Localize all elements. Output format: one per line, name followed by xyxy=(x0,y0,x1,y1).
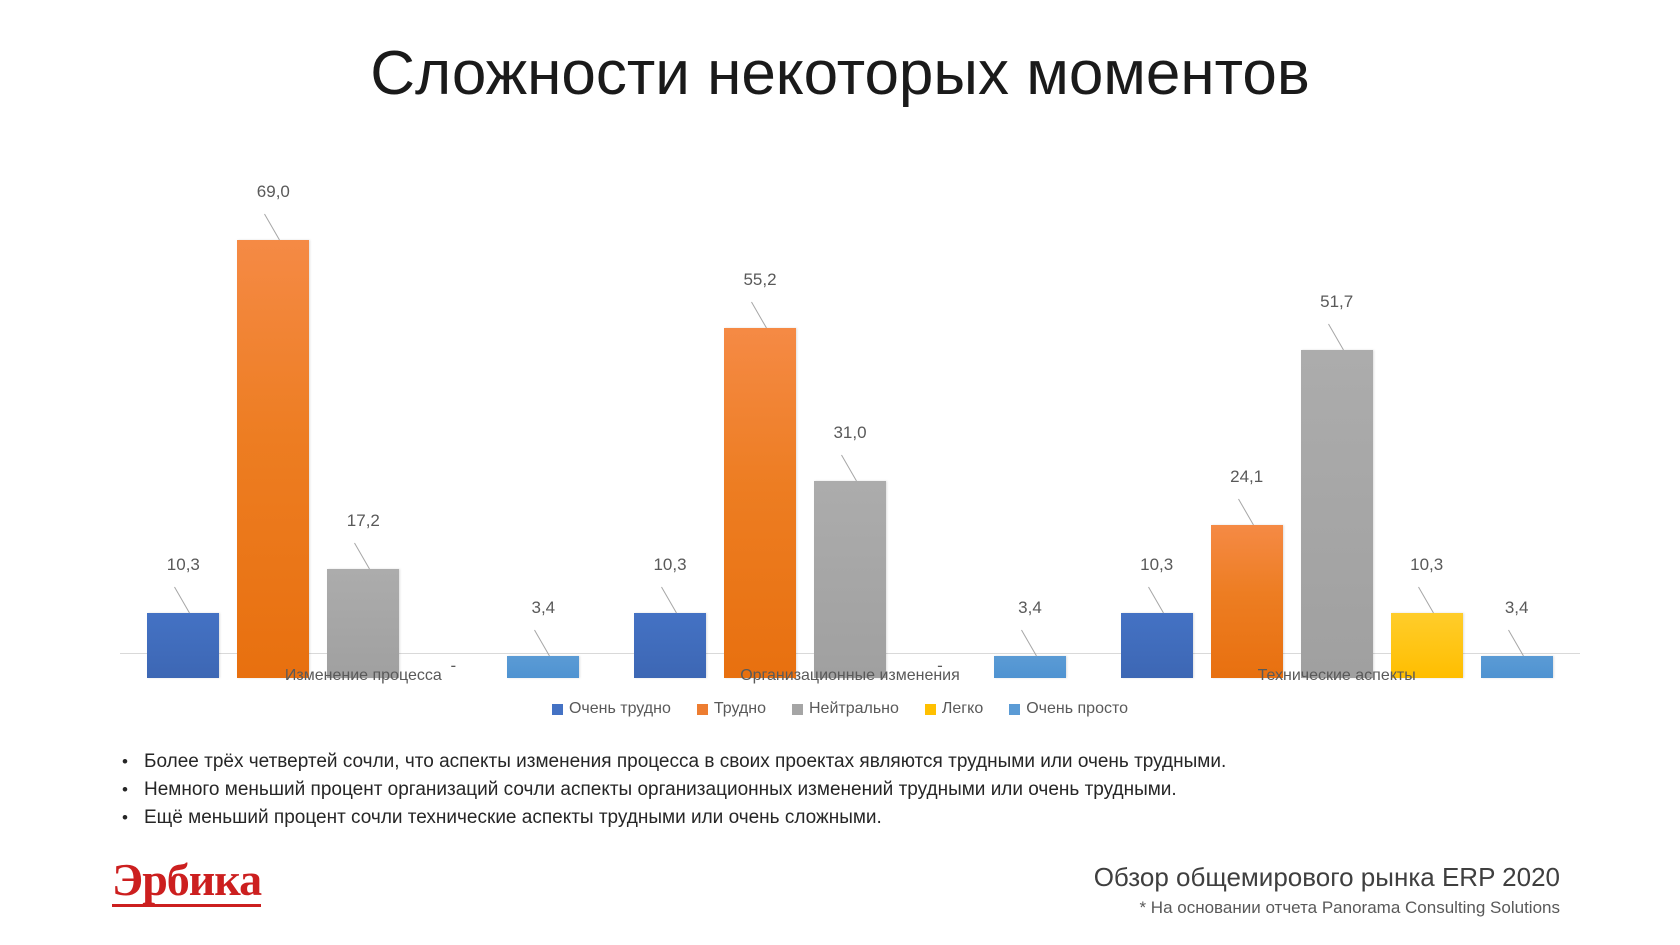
bullet-marker-icon: • xyxy=(122,776,144,804)
bar-slot[interactable]: 51,7 xyxy=(1301,202,1373,678)
leader-line xyxy=(534,630,550,656)
bullet-list: •Более трёх четвертей сочли, что аспекты… xyxy=(122,748,1522,832)
bullet-marker-icon: • xyxy=(122,804,144,832)
bar-slot[interactable]: 10,3 xyxy=(147,202,219,678)
bar-slot[interactable]: 10,3 xyxy=(1391,202,1463,678)
bar-value-label: 3,4 xyxy=(532,599,556,616)
leader-line xyxy=(1021,630,1037,656)
legend-label: Трудно xyxy=(714,700,766,718)
leader-line xyxy=(264,214,280,240)
bar-value-label: 69,0 xyxy=(257,183,290,200)
bullet-item: •Более трёх четвертей сочли, что аспекты… xyxy=(122,748,1522,776)
bar-2[interactable] xyxy=(1301,350,1373,678)
bar-value-label: 10,3 xyxy=(1410,556,1443,573)
erbika-logo: Эрбика xyxy=(112,857,261,907)
bar-1[interactable] xyxy=(1211,525,1283,678)
legend-swatch-icon xyxy=(792,704,803,715)
bar-value-label: 55,2 xyxy=(743,271,776,288)
legend-label: Очень просто xyxy=(1026,700,1128,718)
bar-2[interactable] xyxy=(814,481,886,678)
bar-slot[interactable]: 31,0 xyxy=(814,202,886,678)
bar-slot[interactable]: 3,4 xyxy=(507,202,579,678)
bar-value-label: 31,0 xyxy=(833,424,866,441)
bullet-item: •Немного меньший процент организаций соч… xyxy=(122,776,1522,804)
bar-value-label: 10,3 xyxy=(1140,556,1173,573)
legend-label: Нейтрально xyxy=(809,700,899,718)
category-label: Организационные изменения xyxy=(607,667,1094,685)
legend-item[interactable]: Очень трудно xyxy=(552,700,671,718)
footer-credit: Обзор общемирового рынка ERP 2020 * На о… xyxy=(1094,862,1560,918)
bar-slot[interactable]: 17,2 xyxy=(327,202,399,678)
leader-line xyxy=(751,301,767,327)
leader-line xyxy=(354,543,370,569)
bullet-marker-icon: • xyxy=(122,748,144,776)
chart-legend: Очень трудноТрудноНейтральноЛегкоОчень п… xyxy=(0,700,1680,718)
legend-item[interactable]: Нейтрально xyxy=(792,700,899,718)
footer-title: Обзор общемирового рынка ERP 2020 xyxy=(1094,862,1560,893)
leader-line xyxy=(174,586,190,612)
bullet-text: Ещё меньший процент сочли технические ас… xyxy=(144,804,882,832)
leader-line xyxy=(1508,630,1524,656)
bar-slot[interactable]: 10,3 xyxy=(634,202,706,678)
bar-slot[interactable]: - xyxy=(904,202,976,678)
leader-line xyxy=(1238,499,1254,525)
bar-group: 10,355,231,0-3,4 xyxy=(607,202,1094,678)
footer-source: * На основании отчета Panorama Consultin… xyxy=(1094,898,1560,918)
category-label: Технические аспекты xyxy=(1093,667,1580,685)
bar-value-label: 17,2 xyxy=(347,512,380,529)
bullet-text: Более трёх четвертей сочли, что аспекты … xyxy=(144,748,1226,776)
legend-item[interactable]: Трудно xyxy=(697,700,766,718)
bar-slot[interactable]: - xyxy=(417,202,489,678)
bar-group: 10,369,017,2-3,4 xyxy=(120,202,607,678)
bar-value-label: 10,3 xyxy=(167,556,200,573)
bar-slot[interactable]: 55,2 xyxy=(724,202,796,678)
legend-swatch-icon xyxy=(925,704,936,715)
bar-slot[interactable]: 3,4 xyxy=(1481,202,1553,678)
grouped-bar-chart: 10,369,017,2-3,4Изменение процесса10,355… xyxy=(120,175,1580,680)
bar-group: 10,324,151,710,33,4 xyxy=(1093,202,1580,678)
leader-line xyxy=(1418,586,1434,612)
legend-label: Очень трудно xyxy=(569,700,671,718)
bar-value-label: 51,7 xyxy=(1320,293,1353,310)
bar-1[interactable] xyxy=(724,328,796,678)
category-label: Изменение процесса xyxy=(120,667,607,685)
legend-swatch-icon xyxy=(1009,704,1020,715)
bullet-text: Немного меньший процент организаций сочл… xyxy=(144,776,1177,804)
bar-1[interactable] xyxy=(237,240,309,678)
leader-line xyxy=(1328,324,1344,350)
leader-line xyxy=(661,586,677,612)
bar-value-label: 3,4 xyxy=(1018,599,1042,616)
legend-item[interactable]: Легко xyxy=(925,700,983,718)
leader-line xyxy=(841,455,857,481)
legend-item[interactable]: Очень просто xyxy=(1009,700,1128,718)
bar-value-label: 10,3 xyxy=(653,556,686,573)
leader-line xyxy=(1148,586,1164,612)
page-title: Сложности некоторых моментов xyxy=(0,38,1680,109)
bar-slot[interactable]: 69,0 xyxy=(237,202,309,678)
legend-swatch-icon xyxy=(697,704,708,715)
bar-value-label: 24,1 xyxy=(1230,468,1263,485)
bar-slot[interactable]: 3,4 xyxy=(994,202,1066,678)
bullet-item: •Ещё меньший процент сочли технические а… xyxy=(122,804,1522,832)
bar-2[interactable] xyxy=(327,569,399,678)
bar-value-label: 3,4 xyxy=(1505,599,1529,616)
legend-label: Легко xyxy=(942,700,983,718)
bar-slot[interactable]: 24,1 xyxy=(1211,202,1283,678)
bar-slot[interactable]: 10,3 xyxy=(1121,202,1193,678)
legend-swatch-icon xyxy=(552,704,563,715)
